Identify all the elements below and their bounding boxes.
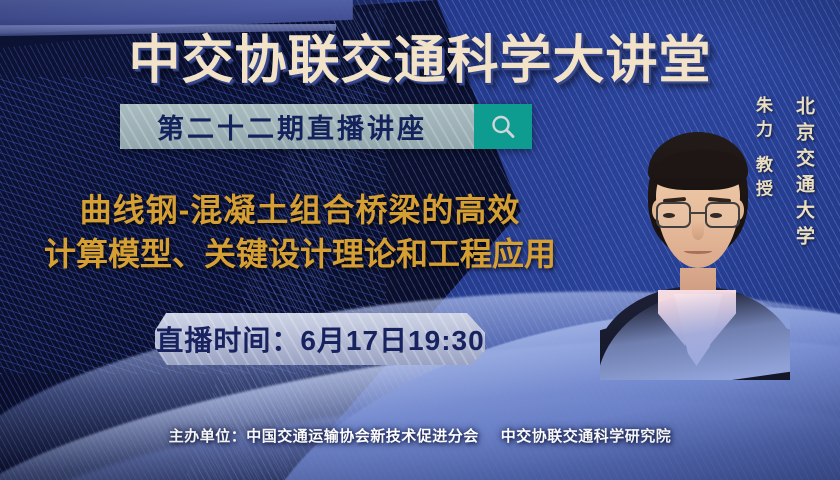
background-vignette	[0, 0, 840, 480]
live-stream-poster: 中交协联交通科学大讲堂 第二十二期直播讲座 曲线钢-混凝土组合桥梁的高效 计算模…	[0, 0, 840, 480]
